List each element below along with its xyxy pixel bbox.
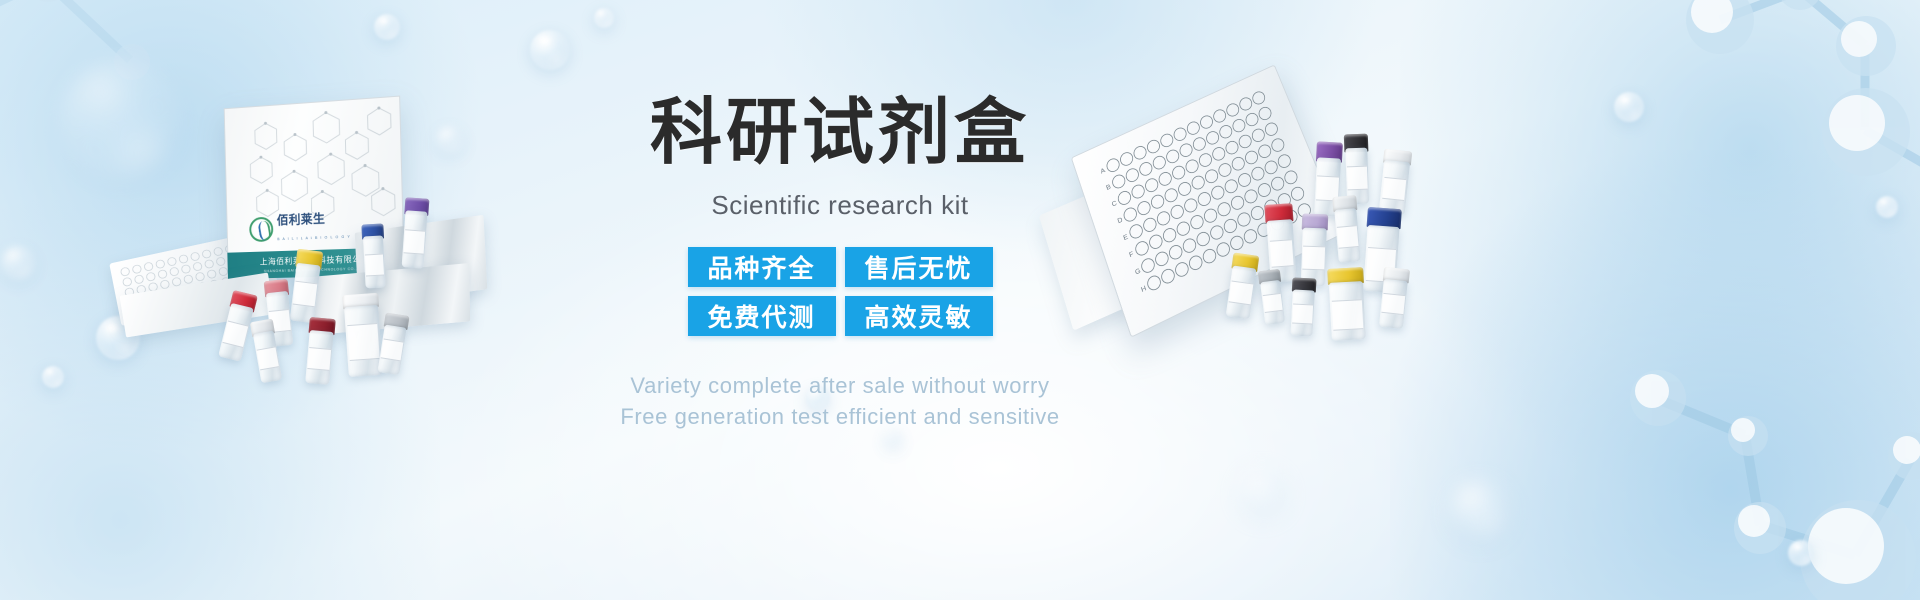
hero-banner: 佰利莱生 B A I L I L A I B I O L O G Y 上海佰利莱… — [0, 0, 1920, 600]
banner-description: Variety complete after sale without worr… — [560, 370, 1120, 432]
molecule-chain-top-right-icon — [1650, 0, 1920, 260]
water-droplet — [884, 430, 902, 448]
water-droplet — [1, 246, 35, 280]
banner-copy: 科研试剂盒 Scientific research kit 品种齐全 售后无忧 … — [560, 92, 1120, 432]
reagent-vial — [1345, 134, 1369, 205]
water-droplet — [1614, 92, 1644, 122]
reagent-vial — [343, 293, 383, 377]
svg-text:F: F — [1128, 251, 1134, 260]
svg-text:H: H — [1140, 285, 1147, 294]
svg-text:E: E — [1123, 233, 1130, 242]
brand-name-cn: 佰利莱生 — [277, 211, 326, 227]
brand-name-en: B A I L I L A I B I O L O G Y — [277, 235, 351, 242]
badge-after-sale-worry-free[interactable]: 售后无忧 — [845, 247, 993, 287]
product-photo-left: 佰利莱生 B A I L I L A I B I O L O G Y 上海佰利莱… — [108, 96, 548, 386]
feature-badge-list: 品种齐全 售后无忧 免费代测 高效灵敏 — [650, 247, 1030, 336]
svg-text:G: G — [1134, 267, 1141, 276]
banner-subtitle: Scientific research kit — [560, 190, 1120, 221]
water-droplet — [1450, 480, 1510, 540]
reagent-vial — [1379, 267, 1409, 329]
reagent-vial — [305, 317, 335, 385]
dna-helix-icon — [249, 216, 273, 242]
reagent-vial — [1328, 267, 1366, 341]
reagent-vial — [1379, 149, 1412, 215]
badge-efficient-sensitive[interactable]: 高效灵敏 — [845, 296, 993, 336]
water-droplet — [1788, 540, 1814, 566]
reagent-vial — [1301, 214, 1327, 287]
reagent-vial — [1333, 195, 1361, 263]
water-droplet — [530, 30, 570, 70]
badge-variety-complete[interactable]: 品种齐全 — [688, 247, 836, 287]
water-droplet — [594, 8, 614, 28]
brand-logo: 佰利莱生 B A I L I L A I B I O L O G Y — [249, 209, 351, 245]
badge-free-testing[interactable]: 免费代测 — [688, 296, 836, 336]
reagent-vial — [1290, 277, 1315, 336]
water-droplet — [374, 14, 400, 40]
water-droplet — [1240, 470, 1286, 516]
molecule-chain-bottom-right-icon — [1610, 340, 1920, 600]
banner-title: 科研试剂盒 — [560, 92, 1120, 176]
water-droplet — [1876, 196, 1898, 218]
water-droplet — [42, 366, 64, 388]
reagent-vial — [362, 224, 385, 289]
